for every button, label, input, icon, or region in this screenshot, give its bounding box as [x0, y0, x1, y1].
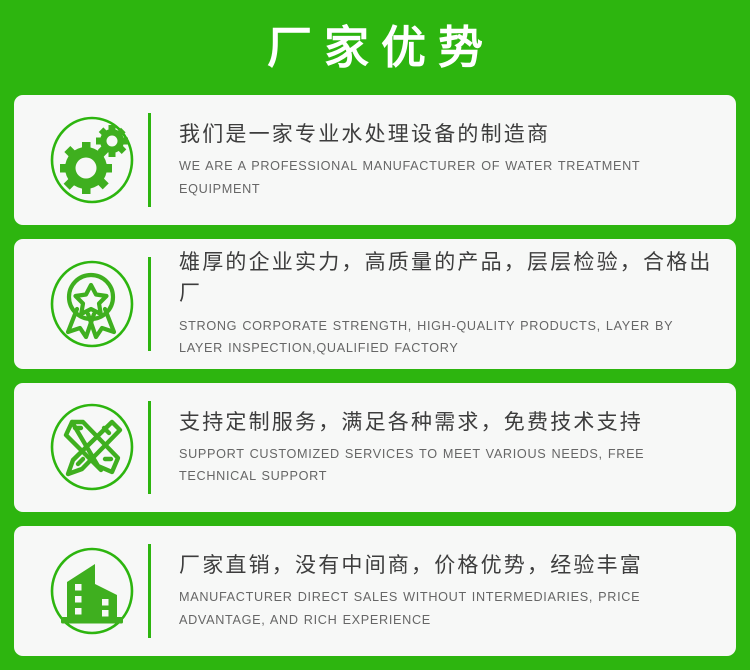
card-title-cn: 我们是一家专业水处理设备的制造商 [179, 119, 716, 150]
factory-advantages-panel: 厂家优势 [0, 0, 750, 670]
card-text: 支持定制服务，满足各种需求，免费技术支持 SUPPORT CUSTOMIZED … [151, 407, 722, 488]
card-subtitle-en: STRONG CORPORATE STRENGTH, HIGH-QUALITY … [179, 315, 695, 360]
award-medal-icon [36, 254, 148, 354]
gears-icon [36, 110, 148, 210]
card-subtitle-en: MANUFACTURER DIRECT SALES WITHOUT INTERM… [179, 586, 695, 631]
card-title-cn: 厂家直销，没有中间商，价格优势，经验丰富 [179, 550, 716, 581]
header: 厂家优势 [14, 0, 736, 95]
factory-building-icon [36, 541, 148, 641]
card-title-cn: 雄厚的企业实力，高质量的产品，层层检验，合格出厂 [179, 247, 716, 309]
crossed-pencils-icon [36, 397, 148, 497]
card-text: 我们是一家专业水处理设备的制造商 WE ARE A PROFESSIONAL M… [151, 119, 722, 200]
page-title: 厂家优势 [255, 25, 495, 70]
card-text: 雄厚的企业实力，高质量的产品，层层检验，合格出厂 STRONG CORPORAT… [151, 247, 722, 360]
advantage-card[interactable]: 我们是一家专业水处理设备的制造商 WE ARE A PROFESSIONAL M… [14, 95, 736, 225]
advantage-card[interactable]: 支持定制服务，满足各种需求，免费技术支持 SUPPORT CUSTOMIZED … [14, 383, 736, 513]
advantage-card[interactable]: 雄厚的企业实力，高质量的产品，层层检验，合格出厂 STRONG CORPORAT… [14, 239, 736, 369]
card-text: 厂家直销，没有中间商，价格优势，经验丰富 MANUFACTURER DIRECT… [151, 550, 722, 631]
card-title-cn: 支持定制服务，满足各种需求，免费技术支持 [179, 407, 716, 438]
card-subtitle-en: SUPPORT CUSTOMIZED SERVICES TO MEET VARI… [179, 443, 695, 488]
advantage-card[interactable]: 厂家直销，没有中间商，价格优势，经验丰富 MANUFACTURER DIRECT… [14, 526, 736, 656]
advantage-card-list: 我们是一家专业水处理设备的制造商 WE ARE A PROFESSIONAL M… [14, 95, 736, 656]
card-subtitle-en: WE ARE A PROFESSIONAL MANUFACTURER OF WA… [179, 155, 695, 200]
